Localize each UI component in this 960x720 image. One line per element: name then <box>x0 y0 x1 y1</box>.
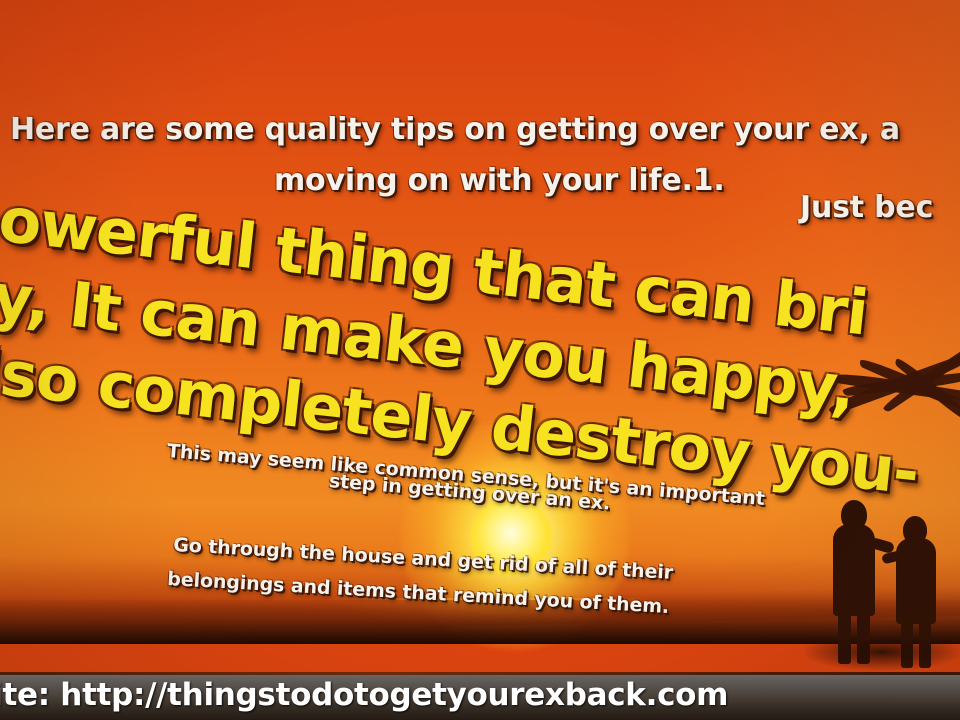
silhouette-figure-right-body <box>896 538 936 624</box>
website-url-text: site: http://thingstodotogetyourexback.c… <box>0 677 728 713</box>
headline-line-2: moving on with your life.1. <box>274 163 725 198</box>
silhouette-ground-shadow <box>805 640 960 670</box>
bottom-bar-top-edge <box>0 672 960 675</box>
bottom-url-bar: site: http://thingstodotogetyourexback.c… <box>0 672 960 720</box>
video-frame: Here are some quality tips on getting ov… <box>0 0 960 720</box>
silhouette-figure-left-body <box>833 524 875 616</box>
headline-line-3: Just bec <box>800 190 933 225</box>
headline-line-1: Here are some quality tips on getting ov… <box>10 112 900 147</box>
